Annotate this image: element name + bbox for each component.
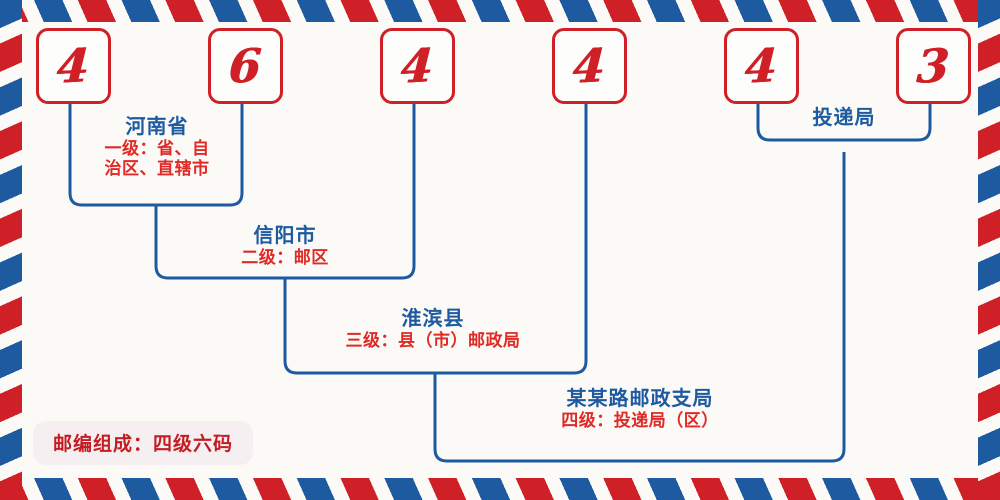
level-1-title: 河南省 xyxy=(76,115,238,139)
postcode-digit-1[interactable]: 4 xyxy=(36,28,111,104)
digit-glyph: 4 xyxy=(400,42,435,90)
level-3-subtitle: 三级：县（市）邮政局 xyxy=(313,331,553,351)
postcode-digit-6[interactable]: 3 xyxy=(896,28,971,104)
level-2-title: 信阳市 xyxy=(205,224,365,248)
postcode-digit-5[interactable]: 4 xyxy=(724,28,799,104)
airmail-border-right xyxy=(978,0,1000,500)
label-level-1: 河南省 一级：省、自 治区、直辖市 xyxy=(76,115,238,179)
label-delivery-office: 投递局 xyxy=(784,106,904,130)
label-level-4: 某某路邮政支局 四级：投递局（区） xyxy=(520,387,760,431)
digit-glyph: 4 xyxy=(572,42,607,90)
digit-glyph: 4 xyxy=(56,42,91,90)
level-1-subtitle-line-2: 治区、直辖市 xyxy=(76,159,238,179)
digit-glyph: 3 xyxy=(916,42,951,90)
legend-text: 邮编组成：四级六码 xyxy=(53,433,233,455)
delivery-office-title: 投递局 xyxy=(784,106,904,130)
level-2-subtitle: 二级：邮区 xyxy=(205,248,365,268)
digit-glyph: 6 xyxy=(228,42,263,90)
level-1-subtitle-line-1: 一级：省、自 xyxy=(76,139,238,159)
digit-glyph: 4 xyxy=(744,42,779,90)
postcode-digit-3[interactable]: 4 xyxy=(380,28,455,104)
level-4-title: 某某路邮政支局 xyxy=(520,387,760,411)
level-4-subtitle: 四级：投递局（区） xyxy=(520,411,760,431)
airmail-border-bottom xyxy=(0,478,1000,500)
postcode-digit-4[interactable]: 4 xyxy=(552,28,627,104)
airmail-border-left xyxy=(0,0,22,500)
level-3-title: 淮滨县 xyxy=(313,307,553,331)
legend-chip: 邮编组成：四级六码 xyxy=(33,421,253,465)
postcode-digit-2[interactable]: 6 xyxy=(208,28,283,104)
postcode-diagram: 4 6 4 4 4 3 河南省 一级：省、自 治区、直辖市 信阳市 二级：邮区 … xyxy=(0,0,1000,500)
label-level-3: 淮滨县 三级：县（市）邮政局 xyxy=(313,307,553,351)
label-level-2: 信阳市 二级：邮区 xyxy=(205,224,365,268)
airmail-border-top xyxy=(0,0,1000,22)
